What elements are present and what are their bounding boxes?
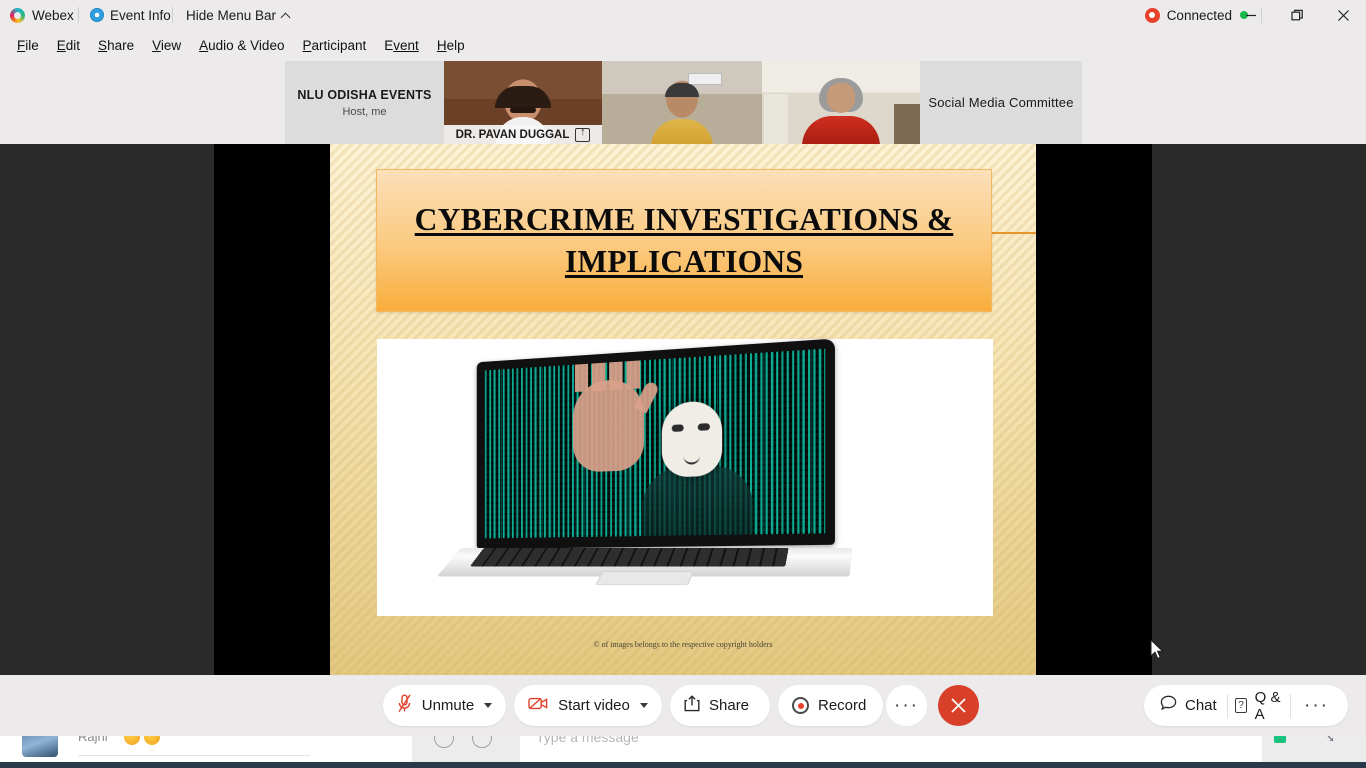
divider xyxy=(78,755,310,756)
slide-accent-rule xyxy=(990,232,1036,234)
video-detail xyxy=(510,107,536,113)
menu-label: dit xyxy=(66,38,80,53)
thumbnail-namebar: DR. PAVAN DUGGAL xyxy=(444,125,602,144)
menu-mnemonic: H xyxy=(437,38,447,53)
hide-menu-bar-label: Hide Menu Bar xyxy=(186,8,276,23)
menu-label: ile xyxy=(25,38,39,53)
menu-mnemonic: S xyxy=(98,38,107,53)
qa-label: Q & A xyxy=(1255,689,1283,723)
menu-mnemonic: V xyxy=(152,38,161,53)
connected-label: Connected xyxy=(1167,8,1232,23)
taskbar xyxy=(0,762,1366,768)
thumbnail-name: NLU ODISHA EVENTS xyxy=(297,88,431,102)
share-screen-icon xyxy=(684,695,700,717)
hide-menu-bar-button[interactable]: Hide Menu Bar xyxy=(186,0,289,30)
more-options-button[interactable]: ··· xyxy=(886,685,927,726)
webex-logo-icon xyxy=(10,8,25,23)
menu-mnemonic: A xyxy=(199,38,208,53)
menu-mnemonic: F xyxy=(17,38,25,53)
question-mark-icon: ? xyxy=(1235,698,1246,713)
hand-graphic xyxy=(575,358,588,392)
divider xyxy=(172,7,173,23)
video-detail xyxy=(651,119,713,144)
qa-button[interactable]: ? Q & A xyxy=(1227,689,1290,723)
close-button[interactable] xyxy=(1320,0,1366,30)
video-detail xyxy=(495,86,551,108)
menu-label: articipant xyxy=(311,38,366,53)
chat-button[interactable]: Chat xyxy=(1150,695,1227,716)
hand-graphic xyxy=(627,352,641,389)
thumbnail-name: Social Media Committee xyxy=(928,95,1073,110)
laptop-keyboard xyxy=(470,548,789,566)
menu-item-view[interactable]: View xyxy=(143,35,190,56)
menu-mnemonic: vent xyxy=(393,38,419,53)
video-detail xyxy=(894,104,920,144)
info-shield-icon xyxy=(90,8,104,22)
meeting-controls-toolbar: Unmute Start video Sha xyxy=(0,675,1366,736)
right-more-button[interactable]: ··· xyxy=(1291,701,1342,711)
menu-bar: File Edit Share View Audio & Video Parti… xyxy=(0,30,1366,61)
menu-item-share[interactable]: Share xyxy=(89,35,143,56)
event-info-button[interactable]: Event Info xyxy=(90,0,171,30)
screen-share-icon xyxy=(575,128,590,142)
menu-item-file[interactable]: File xyxy=(8,35,48,56)
menu-item-audio-video[interactable]: Audio & Video xyxy=(190,35,293,56)
thumbnail-participant-3[interactable] xyxy=(602,61,762,144)
thumbnail-participant-4[interactable] xyxy=(762,61,920,144)
unmute-label: Unmute xyxy=(422,697,475,714)
chevron-down-icon[interactable] xyxy=(484,703,492,708)
laptop-screen-content xyxy=(485,349,825,539)
ellipsis-icon: ··· xyxy=(894,701,919,711)
slide-image xyxy=(377,339,993,616)
microphone-muted-icon xyxy=(397,694,412,718)
chat-bubble-icon xyxy=(1160,695,1177,716)
mouse-cursor xyxy=(1150,639,1164,660)
maximize-restore-button[interactable] xyxy=(1274,0,1320,30)
chat-label: Chat xyxy=(1185,697,1217,714)
end-meeting-button[interactable] xyxy=(938,685,979,726)
event-info-label: Event Info xyxy=(110,8,171,23)
menu-label: E xyxy=(384,38,393,53)
menu-label: udio & Video xyxy=(208,38,284,53)
close-icon xyxy=(950,697,967,714)
hand-graphic xyxy=(573,378,644,472)
laptop-trackpad xyxy=(595,571,693,585)
menu-item-edit[interactable]: Edit xyxy=(48,35,89,56)
slide-title: CYBERCRIME INVESTIGATIONS & IMPLICATIONS xyxy=(391,199,977,283)
thumbnail-name: DR. PAVAN DUGGAL xyxy=(456,129,570,141)
record-label: Record xyxy=(818,697,866,714)
chevron-down-icon[interactable] xyxy=(640,703,648,708)
menu-label: hare xyxy=(107,38,134,53)
guy-fawkes-mask-icon xyxy=(662,400,722,477)
divider xyxy=(78,7,79,23)
laptop-screen xyxy=(477,339,835,550)
shared-content-stage: CYBERCRIME INVESTIGATIONS & IMPLICATIONS xyxy=(0,144,1366,675)
menu-item-participant[interactable]: Participant xyxy=(293,35,375,56)
thumbnail-dr-pavan-duggal[interactable]: DR. PAVAN DUGGAL xyxy=(444,61,602,144)
window-controls xyxy=(1228,0,1366,30)
menu-label: elp xyxy=(447,38,465,53)
hand-graphic xyxy=(609,349,623,391)
participant-filmstrip: NLU ODISHA EVENTS Host, me DR. PAVAN DUG… xyxy=(0,61,1366,144)
thumbnail-nlu-odisha-events[interactable]: NLU ODISHA EVENTS Host, me xyxy=(285,61,444,144)
letterbox-right xyxy=(1036,144,1152,675)
slide-title-box: CYBERCRIME INVESTIGATIONS & IMPLICATIONS xyxy=(376,169,992,312)
video-detail xyxy=(665,83,699,97)
ellipsis-icon: ··· xyxy=(1304,701,1329,711)
app-logo-title: Webex xyxy=(10,0,74,30)
start-video-button[interactable]: Start video xyxy=(514,685,662,726)
video-detail xyxy=(802,116,880,144)
hand-graphic xyxy=(592,349,605,391)
video-detail xyxy=(688,73,722,85)
thumbnail-social-media-committee[interactable]: Social Media Committee xyxy=(920,61,1082,144)
record-button[interactable]: Record xyxy=(778,685,883,726)
menu-item-event[interactable]: Event xyxy=(375,35,428,56)
slide-credit-text: © of images belongs to the respective co… xyxy=(330,639,1036,651)
menu-mnemonic: E xyxy=(57,38,66,53)
share-button[interactable]: Share xyxy=(670,685,770,726)
menu-label: iew xyxy=(161,38,181,53)
camera-off-icon xyxy=(528,696,548,716)
video-feed xyxy=(762,61,920,144)
start-video-label: Start video xyxy=(558,697,630,714)
app-name: Webex xyxy=(32,8,74,23)
webex-window: Webex Event Info Hide Menu Bar Connected xyxy=(0,0,1366,736)
presentation-slide[interactable]: CYBERCRIME INVESTIGATIONS & IMPLICATIONS xyxy=(330,144,1036,675)
record-status-icon xyxy=(1145,8,1160,23)
thumbnail-role: Host, me xyxy=(342,106,386,118)
video-detail xyxy=(764,94,788,144)
right-controls-group: Chat ? Q & A ··· xyxy=(1144,685,1348,726)
video-detail xyxy=(827,83,855,113)
record-icon xyxy=(792,697,809,714)
menu-item-help[interactable]: Help xyxy=(428,35,474,56)
unmute-button[interactable]: Unmute xyxy=(383,685,506,726)
chevron-up-icon xyxy=(281,12,291,22)
title-bar: Webex Event Info Hide Menu Bar Connected xyxy=(0,0,1366,30)
letterbox-left xyxy=(214,144,330,675)
video-feed xyxy=(602,61,762,144)
share-label: Share xyxy=(709,697,749,714)
minimize-button[interactable] xyxy=(1228,0,1274,30)
